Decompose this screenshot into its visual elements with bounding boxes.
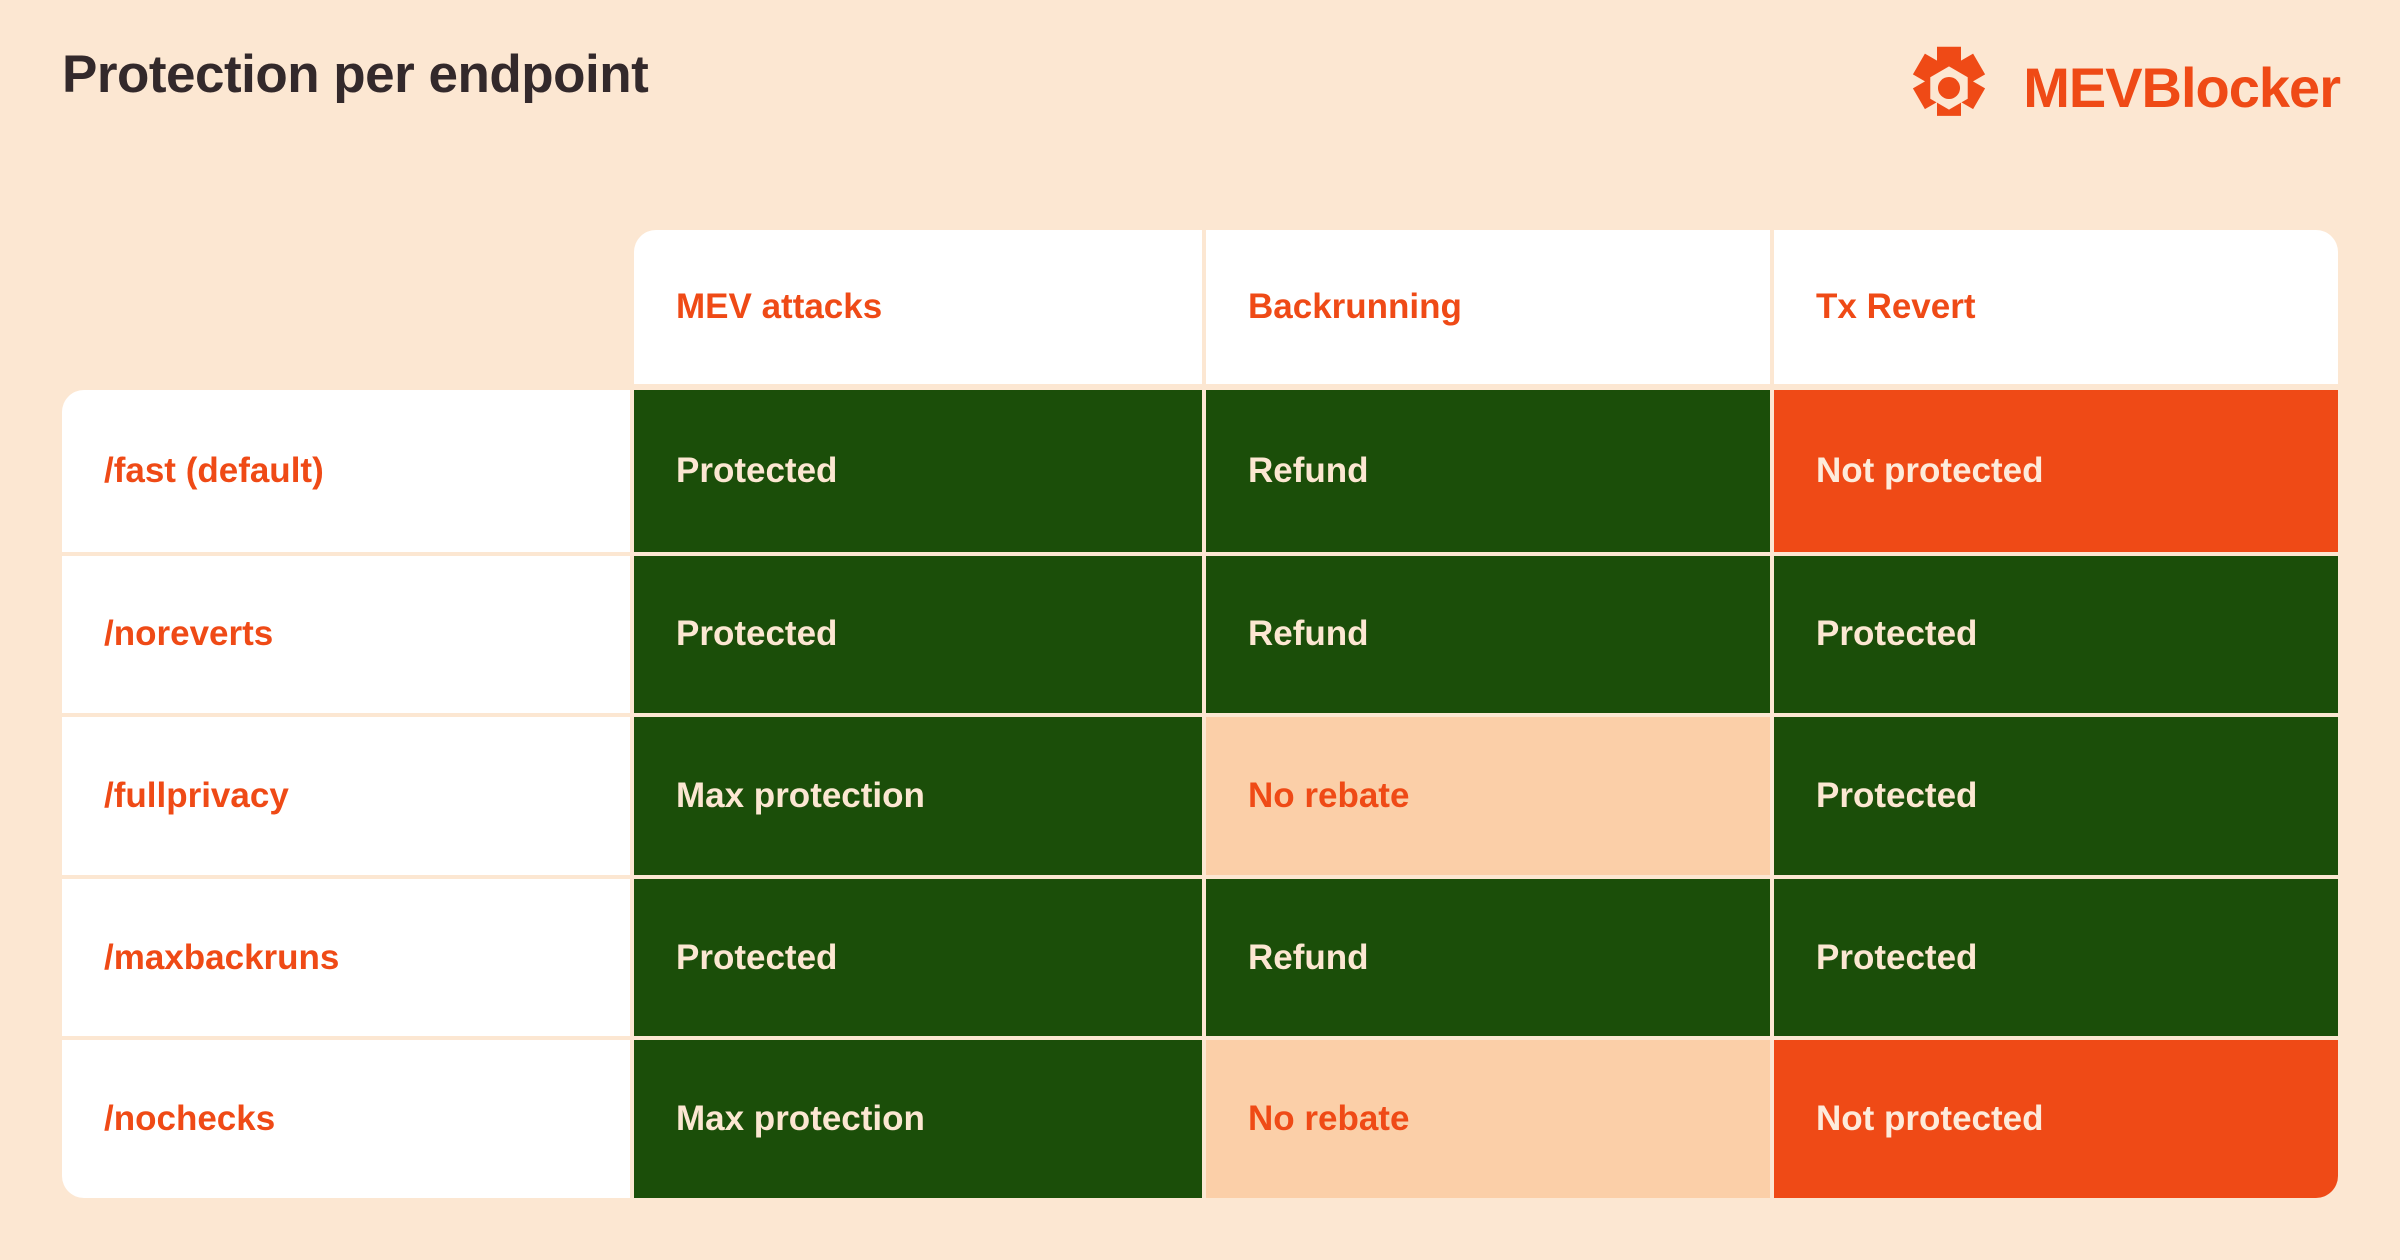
cell-value: Protected xyxy=(1816,938,1977,978)
table-body: /fast (default) Protected Refund Not pro… xyxy=(62,390,2338,1198)
row-header-nochecks: /nochecks xyxy=(62,1036,630,1198)
cell-noreverts-tx-revert: Protected xyxy=(1770,552,2338,714)
cell-value: No rebate xyxy=(1248,776,1409,816)
cell-fast-mev-attacks: Protected xyxy=(634,390,1202,552)
cell-value: Protected xyxy=(676,614,837,654)
cell-value: No rebate xyxy=(1248,1099,1409,1139)
table-row: /fullprivacy Max protection No rebate Pr… xyxy=(62,713,2338,875)
cell-fullprivacy-tx-revert: Protected xyxy=(1770,713,2338,875)
cell-value: Protected xyxy=(676,938,837,978)
table-row: /nochecks Max protection No rebate Not p… xyxy=(62,1036,2338,1198)
column-header-tx-revert: Tx Revert xyxy=(1770,230,2338,384)
cell-value: Not protected xyxy=(1816,451,2044,491)
endpoint-label: /noreverts xyxy=(104,614,273,654)
row-header-fast: /fast (default) xyxy=(62,390,630,552)
cell-maxbackruns-mev-attacks: Protected xyxy=(634,875,1202,1037)
cell-fast-backrunning: Refund xyxy=(1202,390,1770,552)
column-header-label: MEV attacks xyxy=(676,287,882,327)
table-row: /noreverts Protected Refund Protected xyxy=(62,552,2338,714)
endpoint-label: /maxbackruns xyxy=(104,938,339,978)
row-header-noreverts: /noreverts xyxy=(62,552,630,714)
cell-noreverts-mev-attacks: Protected xyxy=(634,552,1202,714)
endpoint-label: /fullprivacy xyxy=(104,776,289,816)
brand-lockup: MEVBlocker xyxy=(1901,40,2340,136)
column-header-backrunning: Backrunning xyxy=(1202,230,1770,384)
cell-maxbackruns-backrunning: Refund xyxy=(1202,875,1770,1037)
cell-fullprivacy-backrunning: No rebate xyxy=(1202,713,1770,875)
cell-nochecks-mev-attacks: Max protection xyxy=(634,1036,1202,1198)
protection-per-endpoint-page: Protection per endpoint MEVBlocker MEV a… xyxy=(0,0,2400,1260)
cell-fast-tx-revert: Not protected xyxy=(1770,390,2338,552)
cell-value: Refund xyxy=(1248,614,1369,654)
table-header-row: MEV attacks Backrunning Tx Revert xyxy=(634,230,2338,384)
cell-nochecks-tx-revert: Not protected xyxy=(1770,1036,2338,1198)
brand-name: MEVBlocker xyxy=(2023,60,2340,116)
endpoint-label: /nochecks xyxy=(104,1099,275,1139)
row-header-fullprivacy: /fullprivacy xyxy=(62,713,630,875)
cell-value: Protected xyxy=(1816,776,1977,816)
cell-value: Protected xyxy=(1816,614,1977,654)
table-row: /fast (default) Protected Refund Not pro… xyxy=(62,390,2338,552)
column-header-label: Backrunning xyxy=(1248,287,1462,327)
column-header-label: Tx Revert xyxy=(1816,287,1976,327)
row-header-maxbackruns: /maxbackruns xyxy=(62,875,630,1037)
page-header: Protection per endpoint MEVBlocker xyxy=(0,0,2400,180)
cell-noreverts-backrunning: Refund xyxy=(1202,552,1770,714)
cell-nochecks-backrunning: No rebate xyxy=(1202,1036,1770,1198)
page-title: Protection per endpoint xyxy=(62,46,648,104)
endpoint-label: /fast (default) xyxy=(104,451,324,491)
hexagon-gear-icon xyxy=(1901,40,1997,136)
protection-table: MEV attacks Backrunning Tx Revert /fast … xyxy=(62,230,2338,1198)
cell-value: Refund xyxy=(1248,938,1369,978)
table-row: /maxbackruns Protected Refund Protected xyxy=(62,875,2338,1037)
column-header-mev-attacks: MEV attacks xyxy=(634,230,1202,384)
cell-value: Max protection xyxy=(676,776,925,816)
cell-value: Not protected xyxy=(1816,1099,2044,1139)
cell-maxbackruns-tx-revert: Protected xyxy=(1770,875,2338,1037)
cell-value: Max protection xyxy=(676,1099,925,1139)
cell-value: Protected xyxy=(676,451,837,491)
cell-value: Refund xyxy=(1248,451,1369,491)
cell-fullprivacy-mev-attacks: Max protection xyxy=(634,713,1202,875)
